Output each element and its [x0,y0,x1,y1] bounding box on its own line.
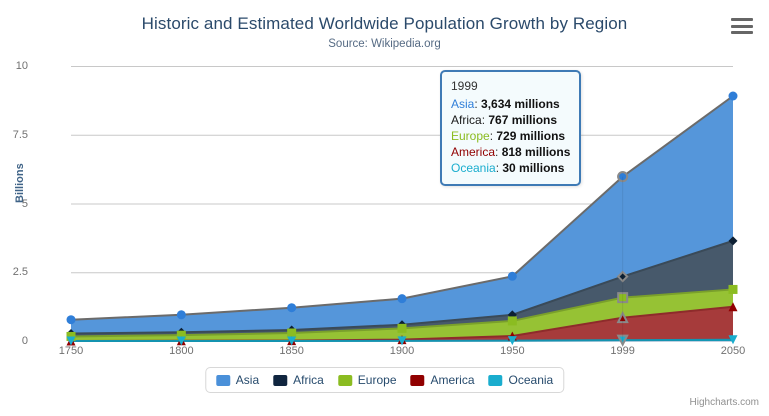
tooltip-series-name: Oceania [451,161,496,175]
legend-item-label: Oceania [509,373,554,387]
tooltip-row-america: America: 818 millions [451,144,570,160]
tooltip-series-value: 3,634 millions [481,97,560,111]
legend-item-label: Africa [293,373,324,387]
legend-item-oceania[interactable]: Oceania [489,373,554,387]
legend-item-label: Europe [358,373,397,387]
legend-swatch-icon [411,375,425,386]
legend-swatch-icon [489,375,503,386]
tooltip-separator: : [474,97,481,111]
tooltip-series-value: 30 millions [502,161,564,175]
data-point-asia[interactable] [398,294,407,303]
tooltip-row-africa: Africa: 767 millions [451,112,570,128]
hamburger-bar [731,25,753,28]
data-point-europe[interactable] [398,324,407,333]
chart-legend: AsiaAfricaEuropeAmericaOceania [205,367,564,393]
x-axis-tick-label: 1850 [279,345,303,357]
legend-item-label: Asia [236,373,259,387]
legend-item-asia[interactable]: Asia [216,373,259,387]
highcharts-credits[interactable]: Highcharts.com [690,397,759,408]
y-axis-tick-label: 0 [0,335,28,347]
hamburger-bar [731,18,753,21]
x-axis-tick-label: 1800 [169,345,193,357]
data-point-asia[interactable] [729,92,738,101]
tooltip-separator: : [495,145,502,159]
chart-subtitle: Source: Wikipedia.org [0,38,769,50]
legend-item-america[interactable]: America [411,373,475,387]
legend-item-europe[interactable]: Europe [338,373,397,387]
tooltip-row-europe: Europe: 729 millions [451,128,570,144]
data-point-asia[interactable] [508,272,517,281]
tooltip-series-name: America [451,145,495,159]
tooltip-header: 1999 [451,79,570,93]
tooltip-rows: Asia: 3,634 millionsAfrica: 767 millions… [451,96,570,176]
legend-swatch-icon [338,375,352,386]
data-point-asia[interactable] [287,303,296,312]
legend-item-africa[interactable]: Africa [273,373,324,387]
tooltip-series-name: Asia [451,97,474,111]
data-point-europe[interactable] [508,316,517,325]
tooltip-series-name: Africa [451,113,482,127]
tooltip: 1999 Asia: 3,634 millionsAfrica: 767 mil… [440,70,581,186]
page-title: Historic and Estimated Worldwide Populat… [0,14,769,34]
x-axis-tick-label: 2050 [721,345,745,357]
data-point-asia[interactable] [177,310,186,319]
tooltip-row-oceania: Oceania: 30 millions [451,160,570,176]
highcharts-container: Historic and Estimated Worldwide Populat… [0,0,769,416]
plot-area [71,66,733,341]
y-axis-tick-label: 5 [0,198,28,210]
data-point-asia[interactable] [67,315,76,324]
hamburger-menu-icon[interactable] [731,17,753,35]
tooltip-series-value: 729 millions [496,129,565,143]
y-axis-tick-label: 10 [0,60,28,72]
tooltip-series-name: Europe [451,129,490,143]
x-axis-tick-label: 1750 [59,345,83,357]
y-axis-tick-label: 7.5 [0,129,28,141]
tooltip-series-value: 767 millions [488,113,557,127]
legend-swatch-icon [216,375,230,386]
x-axis-tick-label: 1950 [500,345,524,357]
legend-swatch-icon [273,375,287,386]
hamburger-bar [731,31,753,34]
data-point-europe[interactable] [729,285,738,294]
y-axis-tick-label: 2.5 [0,266,28,278]
legend-item-label: America [431,373,475,387]
x-axis-tick-label: 1900 [390,345,414,357]
tooltip-series-value: 818 millions [502,145,571,159]
tooltip-row-asia: Asia: 3,634 millions [451,96,570,112]
